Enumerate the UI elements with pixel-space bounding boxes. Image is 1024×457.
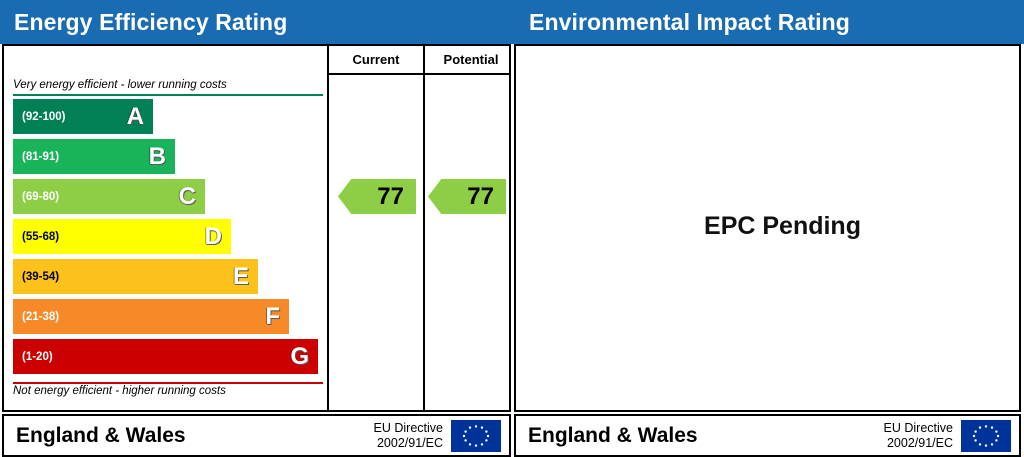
rating-band-e: (39-54) E (13, 259, 258, 294)
caption-very-efficient: Very energy efficient - lower running co… (13, 79, 227, 91)
current-rating-arrow: 77 (338, 179, 416, 214)
potential-rating-value: 77 (467, 183, 494, 211)
column-divider-current (327, 46, 329, 410)
column-header-potential: Potential (425, 46, 517, 73)
footer-region-label: England & Wales (16, 424, 186, 448)
footer-directive-line1: EU Directive (884, 421, 953, 436)
rating-band-a-letter: A (127, 105, 144, 129)
rating-band-g-range: (1-20) (22, 351, 53, 363)
energy-efficiency-chart: Current Potential Very energy efficient … (4, 46, 509, 410)
eu-flag-icon (450, 419, 502, 453)
rating-band-d: (55-68) D (13, 219, 231, 254)
footer-directive-line2: 2002/91/EC (374, 436, 443, 451)
rating-band-b-range: (81-91) (22, 151, 59, 163)
epc-certificate: Energy Efficiency Rating Current Potenti… (0, 0, 1024, 457)
footer-directive: EU Directive 2002/91/EC (884, 421, 953, 451)
rating-band-b: (81-91) B (13, 139, 175, 174)
eu-flag-icon (960, 419, 1012, 453)
current-rating-value: 77 (377, 183, 404, 211)
rating-band-c-range: (69-80) (22, 191, 59, 203)
caption-top-rule (13, 94, 323, 96)
energy-efficiency-chart-body: Current Potential Very energy efficient … (2, 44, 511, 412)
caption-bottom-rule (13, 382, 323, 384)
environmental-impact-footer: England & Wales EU Directive 2002/91/EC (514, 414, 1021, 457)
epc-pending-message: EPC Pending (704, 212, 861, 241)
rating-band-c-letter: C (179, 185, 196, 209)
energy-efficiency-panel: Energy Efficiency Rating Current Potenti… (0, 0, 513, 457)
rating-band-d-letter: D (205, 225, 222, 249)
rating-band-g-letter: G (290, 345, 309, 369)
rating-band-a: (92-100) A (13, 99, 153, 134)
environmental-impact-body: EPC Pending (514, 44, 1021, 412)
rating-band-f: (21-38) F (13, 299, 289, 334)
environmental-impact-panel: Environmental Impact Rating EPC Pending … (513, 0, 1024, 457)
rating-band-c: (69-80) C (13, 179, 205, 214)
rating-band-b-letter: B (149, 145, 166, 169)
footer-region-label: England & Wales (528, 424, 698, 448)
footer-directive-line2: 2002/91/EC (884, 436, 953, 451)
potential-rating-arrow: 77 (428, 179, 506, 214)
energy-efficiency-header: Energy Efficiency Rating (0, 0, 513, 44)
column-header-current: Current (329, 46, 423, 73)
rating-band-e-letter: E (233, 265, 249, 289)
footer-directive: EU Directive 2002/91/EC (374, 421, 443, 451)
rating-band-g: (1-20) G (13, 339, 318, 374)
pending-message-wrap: EPC Pending (516, 46, 1019, 410)
caption-not-efficient: Not energy efficient - higher running co… (13, 385, 226, 397)
environmental-impact-header: Environmental Impact Rating (513, 0, 1024, 44)
rating-band-a-range: (92-100) (22, 111, 65, 123)
rating-band-d-range: (55-68) (22, 231, 59, 243)
rating-band-f-range: (21-38) (22, 311, 59, 323)
column-header-underline (327, 73, 509, 75)
rating-band-e-range: (39-54) (22, 271, 59, 283)
column-divider-potential (423, 46, 425, 410)
rating-band-f-letter: F (265, 305, 280, 329)
energy-efficiency-footer: England & Wales EU Directive 2002/91/EC (2, 414, 511, 457)
footer-directive-line1: EU Directive (374, 421, 443, 436)
